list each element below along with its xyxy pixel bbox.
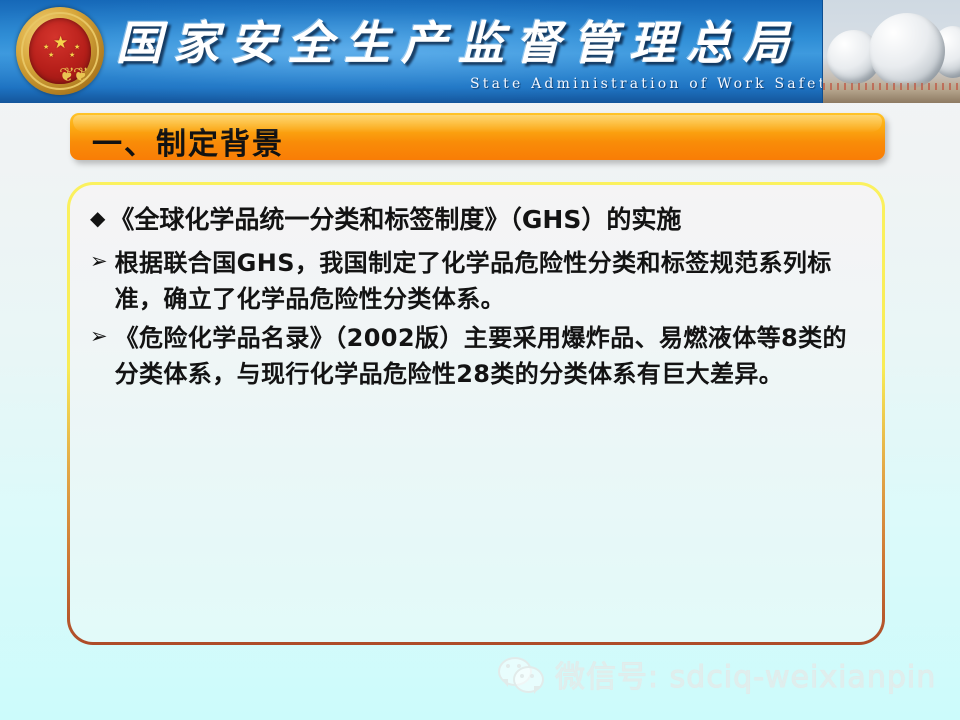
emblem-star-small-2: ★ xyxy=(48,52,54,59)
bullet-text: 根据联合国GHS，我国制定了化学品危险性分类和标签规范系列标准，确立了化学品危险… xyxy=(115,245,865,318)
tank-support-legs xyxy=(823,81,960,103)
national-emblem-icon: ★ ★ ★ ★ ★ ❦❦ xyxy=(16,7,104,95)
wechat-icon xyxy=(497,655,547,693)
diamond-bullet-icon: ◆ xyxy=(90,201,109,232)
storage-tanks-photo xyxy=(822,0,960,103)
bullet-item: ➢ 《危险化学品名录》（2002版）主要采用爆炸品、易燃液体等8类的分类体系，与… xyxy=(90,320,865,393)
arrow-bullet-icon: ➢ xyxy=(90,320,115,350)
agency-title-cn: 国家安全生产监督管理总局 xyxy=(116,7,800,73)
wechat-dot xyxy=(520,674,524,678)
content-box: ◆ 《全球化学品统一分类和标签制度》（GHS）的实施 ➢ 根据联合国GHS，我国… xyxy=(67,182,885,645)
wechat-tail-front xyxy=(534,686,541,694)
bullet-item: ➢ 根据联合国GHS，我国制定了化学品危险性分类和标签规范系列标准，确立了化学品… xyxy=(90,245,865,318)
wechat-id-text: 微信号: sdciq-weixianpin xyxy=(555,652,936,696)
tank-sphere-2 xyxy=(869,13,945,89)
bullet-list: ◆ 《全球化学品统一分类和标签制度》（GHS）的实施 ➢ 根据联合国GHS，我国… xyxy=(90,201,865,395)
header-banner: ★ ★ ★ ★ ★ ❦❦ 国家安全生产监督管理总局 State Administ… xyxy=(0,0,960,103)
emblem-wheat-sheaf: ❦❦ xyxy=(51,66,95,85)
section-title-text: 一、制定背景 xyxy=(92,119,284,163)
wechat-dot xyxy=(530,674,534,678)
emblem-star-small-4: ★ xyxy=(74,44,80,51)
emblem-star-small-1: ★ xyxy=(43,44,49,51)
emblem-core: ★ ★ ★ ★ ★ ❦❦ xyxy=(29,18,91,84)
wechat-dot xyxy=(506,664,510,668)
agency-title-en: State Administration of Work Safety xyxy=(470,76,839,92)
bullet-text: 《危险化学品名录》（2002版）主要采用爆炸品、易燃液体等8类的分类体系，与现行… xyxy=(115,320,865,393)
emblem-star-small-3: ★ xyxy=(69,52,75,59)
bullet-text: 《全球化学品统一分类和标签制度》（GHS）的实施 xyxy=(109,201,865,239)
arrow-bullet-icon: ➢ xyxy=(90,245,115,275)
wechat-tail-back xyxy=(501,679,508,687)
section-title-bar: 一、制定背景 xyxy=(70,113,885,160)
emblem-star-large: ★ xyxy=(53,34,68,51)
bullet-item: ◆ 《全球化学品统一分类和标签制度》（GHS）的实施 xyxy=(90,201,865,239)
slide-canvas: ★ ★ ★ ★ ★ ❦❦ 国家安全生产监督管理总局 State Administ… xyxy=(0,0,960,720)
wechat-watermark: 微信号: sdciq-weixianpin xyxy=(497,652,936,696)
